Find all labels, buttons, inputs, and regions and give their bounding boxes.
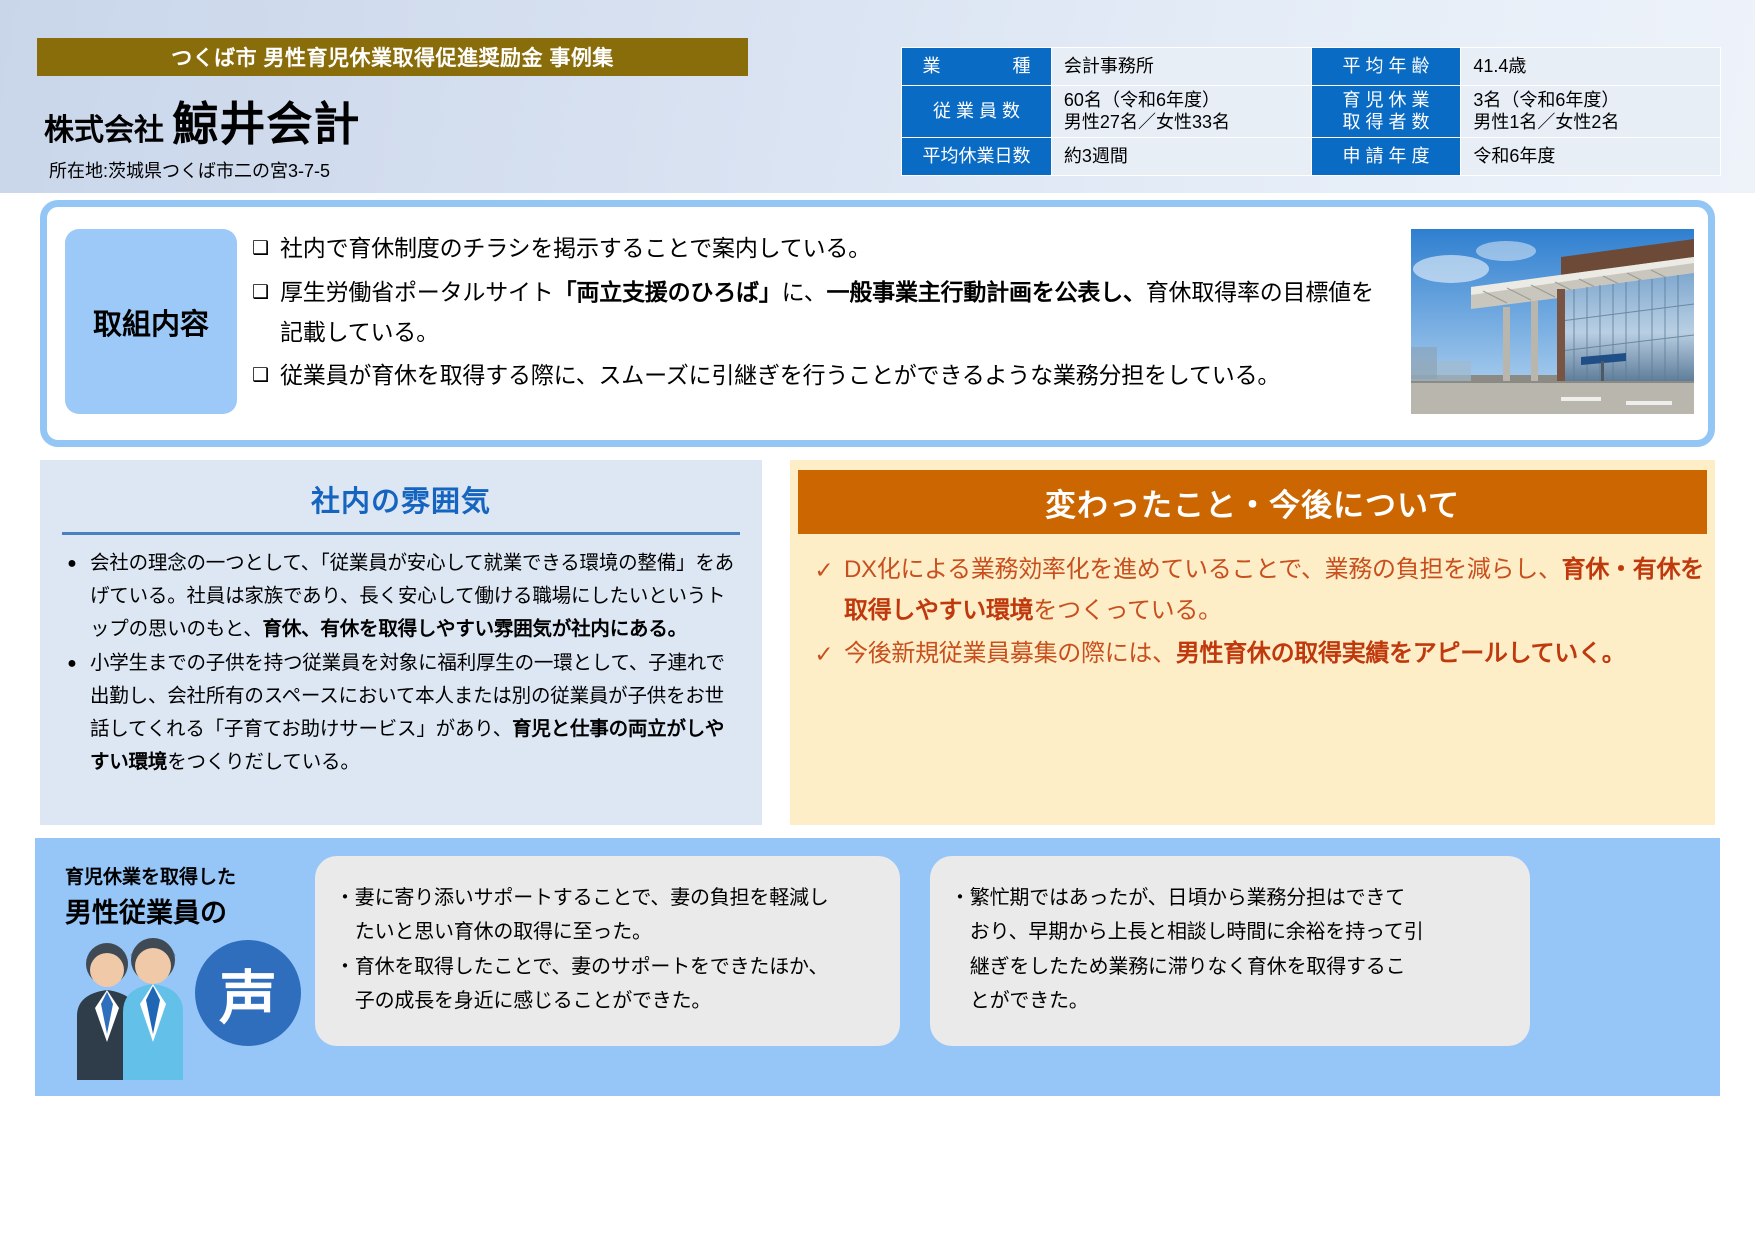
voices-illustration: 声 [65,930,315,1080]
voice-line: たいと思い育休の取得に至った。 [335,916,878,948]
changes-title-text: 変わったこと・今後について [1045,480,1460,525]
initiative-text-1: 社内で育休制度のチラシを掲示することで案内している。 [280,229,871,269]
check-icon: ✓ [804,550,844,590]
initiatives-badge: 取組内容 [65,229,237,414]
check-icon: ✓ [804,634,844,674]
koe-circle: 声 [195,940,301,1046]
table-row: 従 業 員 数 60名（令和6年度） 男性27名／女性33名 育 児 休 業 取… [902,86,1721,138]
page-title: 株式会社 鯨井会計 [44,88,360,154]
info-label-average-leave-days: 平均休業日数 [902,138,1052,176]
company-address: 所在地:茨城県つくば市二の宮3-7-5 [49,157,330,183]
info-value-employees: 60名（令和6年度） 男性27名／女性33名 [1051,86,1311,138]
voice-line: ・繁忙期ではあったが、日頃から業務分担はできて [950,882,1508,914]
list-item: ❑ 社内で育休制度のチラシを掲示することで案内している。 [252,229,1392,269]
info-label-employees: 従 業 員 数 [902,86,1052,138]
info-value-application-year: 令和6年度 [1461,138,1721,176]
bullet-icon: ● [54,647,90,680]
initiative-text-2: 厚生労働省ポータルサイト「両立支援のひろば」に、一般事業主行動計画を公表し、育休… [280,273,1392,352]
changes-text-2: 今後新規従業員募集の際には、男性育休の取得実績をアピールしていく。 [844,634,1625,675]
list-item: ❑ 従業員が育休を取得する際に、スムーズに引継ぎを行うことができるような業務分担… [252,356,1392,396]
bullet-icon: ● [54,547,90,580]
poster-page: つくば市 男性育児休業取得促進奨励金 事例集 株式会社 鯨井会計 所在地:茨城県… [0,0,1755,1241]
voice-bubble-2: ・繁忙期ではあったが、日頃から業務分担はできて おり、早期から上長と相談し時間に… [930,856,1530,1046]
company-prefix: 株式会社 [44,114,164,147]
voices-label: 育児休業を取得した 男性従業員の [65,862,315,930]
info-label-application-year: 申 請 年 度 [1311,138,1461,176]
company-info-table: 業 種 会計事務所 平 均 年 齢 41.4歳 従 業 員 数 60名（令和6年… [901,47,1721,176]
initiatives-badge-label: 取組内容 [93,301,209,343]
list-item: ❑ 厚生労働省ポータルサイト「両立支援のひろば」に、一般事業主行動計画を公表し、… [252,273,1392,352]
voices-label-line1: 育児休業を取得した [65,862,315,889]
atmosphere-text-2: 小学生までの子供を持つ従業員を対象に福利厚生の一環として、子連れで出勤し、会社所… [90,647,740,778]
initiatives-list: ❑ 社内で育休制度のチラシを掲示することで案内している。 ❑ 厚生労働省ポータル… [252,229,1392,400]
info-label-industry: 業 種 [902,48,1052,86]
program-title-banner: つくば市 男性育児休業取得促進奨励金 事例集 [37,38,748,76]
voice-line: ・妻に寄り添いサポートすることで、妻の負担を軽減し [335,882,878,914]
list-item: ✓ 今後新規従業員募集の際には、男性育休の取得実績をアピールしていく。 [804,634,1704,675]
building-photo-graphic [1411,229,1694,414]
atmosphere-panel: 社内の雰囲気 ● 会社の理念の一つとして、「従業員が安心して就業できる環境の整備… [40,460,762,825]
initiative-text-3: 従業員が育休を取得する際に、スムーズに引継ぎを行うことができるような業務分担をし… [280,356,1280,396]
voice-bubble-1: ・妻に寄り添いサポートすることで、妻の負担を軽減し たいと思い育休の取得に至った… [315,856,900,1046]
info-value-average-age: 41.4歳 [1461,48,1721,86]
changes-list: ✓ DX化による業務効率化を進めていることで、業務の負担を減らし、育休・有休を取… [804,550,1704,676]
table-row: 平均休業日数 約3週間 申 請 年 度 令和6年度 [902,138,1721,176]
info-label-average-age: 平 均 年 齢 [1311,48,1461,86]
atmosphere-text-1: 会社の理念の一つとして、「従業員が安心して就業できる環境の整備」をあげている。社… [90,547,740,645]
initiatives-card: 取組内容 ❑ 社内で育休制度のチラシを掲示することで案内している。 ❑ 厚生労働… [40,200,1715,447]
atmosphere-title: 社内の雰囲気 [40,460,762,520]
program-title-text: つくば市 男性育児休業取得促進奨励金 事例集 [171,42,614,72]
voice-line: おり、早期から上長と相談し時間に余裕を持って引 [950,916,1508,948]
atmosphere-list: ● 会社の理念の一つとして、「従業員が安心して就業できる環境の整備」をあげている… [40,535,762,778]
info-value-average-leave-days: 約3週間 [1051,138,1311,176]
voices-panel: 育児休業を取得した 男性従業員の 声 ・妻に [35,838,1720,1096]
list-item: ● 会社の理念の一つとして、「従業員が安心して就業できる環境の整備」をあげている… [54,547,740,645]
company-building-photo [1411,229,1694,414]
voice-line: とができた。 [950,985,1508,1017]
koe-text: 声 [219,951,277,1035]
info-label-leave-takers: 育 児 休 業 取 得 者 数 [1311,86,1461,138]
changes-text-1: DX化による業務効率化を進めていることで、業務の負担を減らし、育休・有休を取得し… [844,550,1704,632]
voice-line: ・育休を取得したことで、妻のサポートをできたほか、 [335,951,878,983]
changes-title-bar: 変わったこと・今後について [798,470,1707,534]
voice-line: 子の成長を身近に感じることができた。 [335,985,878,1017]
checkbox-marker-icon: ❑ [252,356,280,396]
info-value-industry: 会計事務所 [1051,48,1311,86]
list-item: ● 小学生までの子供を持つ従業員を対象に福利厚生の一環として、子連れで出勤し、会… [54,647,740,778]
two-employees-icon [65,930,205,1080]
list-item: ✓ DX化による業務効率化を進めていることで、業務の負担を減らし、育休・有休を取… [804,550,1704,632]
company-main-name: 鯨井会計 [172,98,360,150]
table-row: 業 種 会計事務所 平 均 年 齢 41.4歳 [902,48,1721,86]
checkbox-marker-icon: ❑ [252,273,280,313]
voice-line: 継ぎをしたため業務に滞りなく育休を取得するこ [950,951,1508,983]
changes-panel: 変わったこと・今後について ✓ DX化による業務効率化を進めていることで、業務の… [790,460,1715,825]
voices-label-line2: 男性従業員の [65,891,315,930]
checkbox-marker-icon: ❑ [252,229,280,269]
info-value-leave-takers: 3名（令和6年度） 男性1名／女性2名 [1461,86,1721,138]
